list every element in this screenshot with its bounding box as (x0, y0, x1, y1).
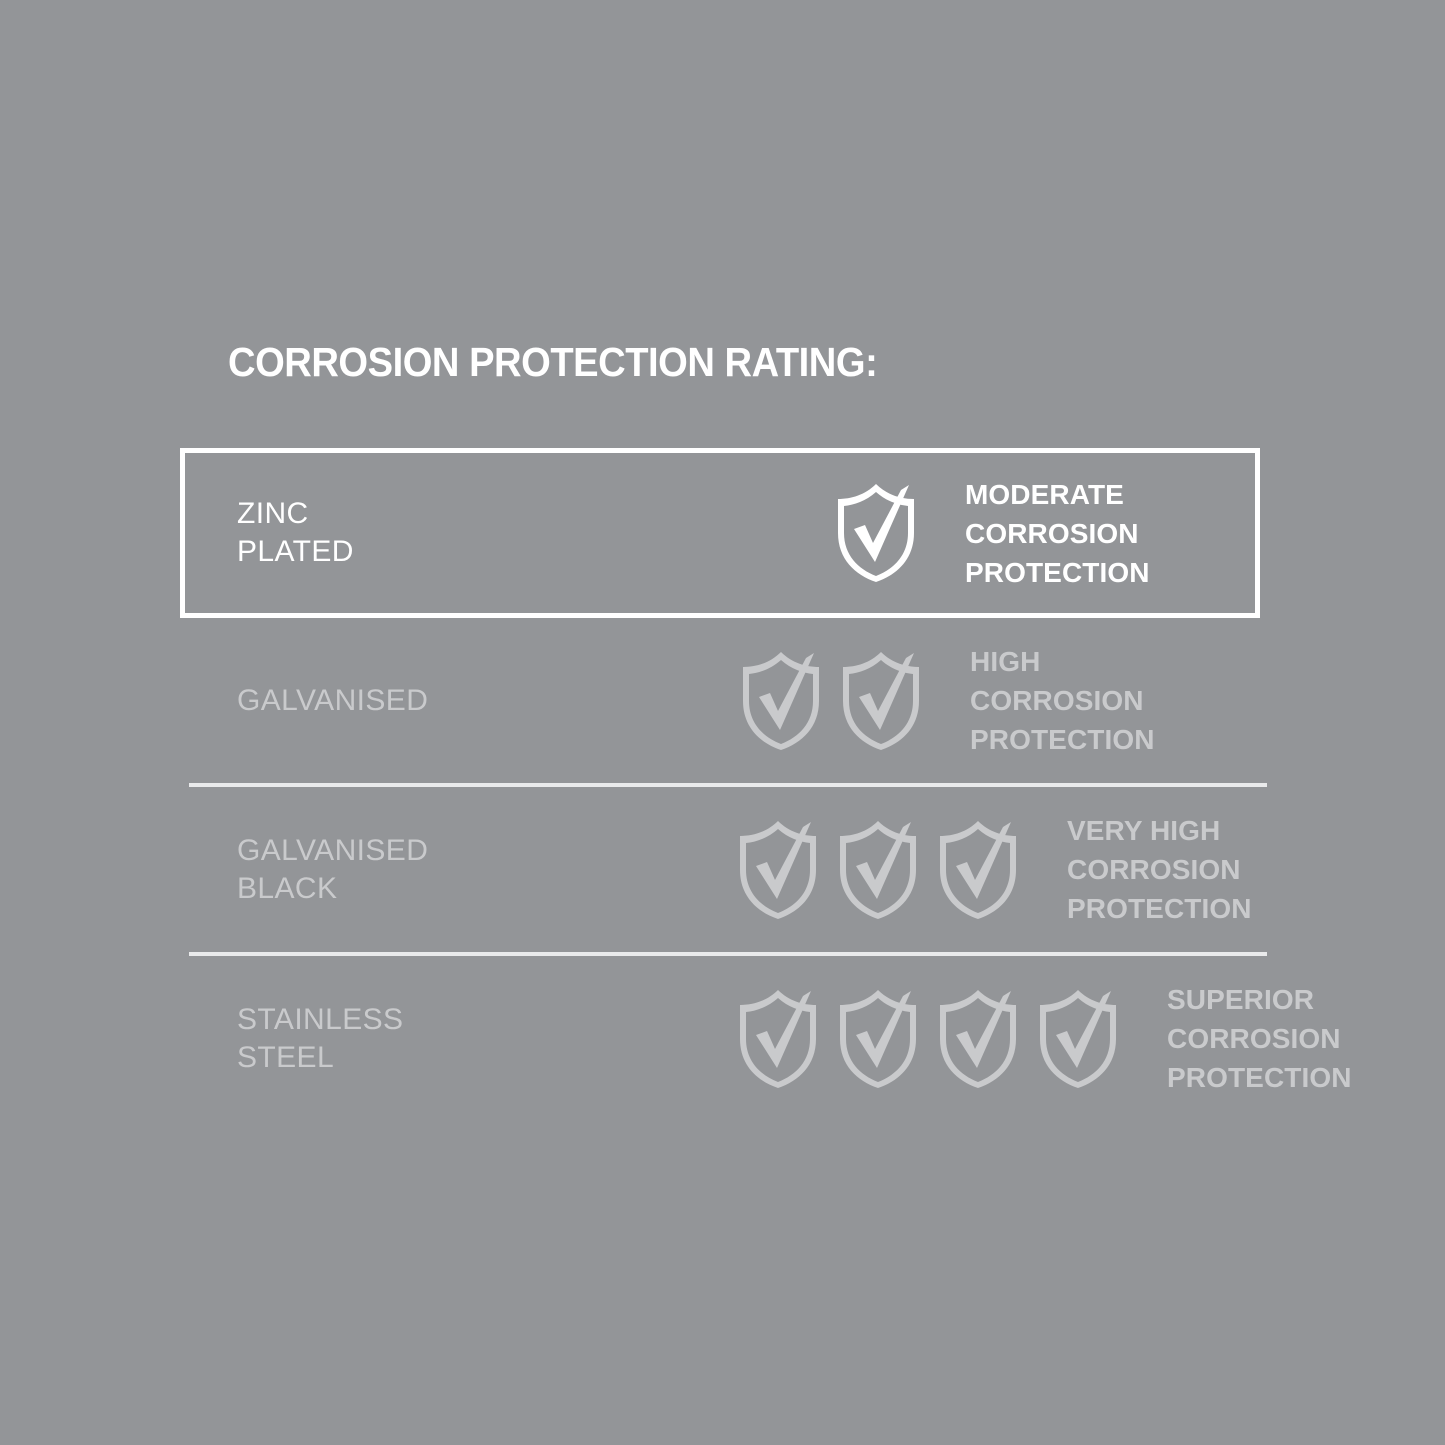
shield-check-icon (835, 481, 917, 585)
shield-group (737, 987, 1167, 1091)
rating-label: MODERATE CORROSION PROTECTION (965, 475, 1255, 592)
shield-check-icon (737, 818, 819, 922)
shield-check-icon (737, 987, 819, 1091)
shield-group (737, 649, 970, 753)
rating-label: SUPERIOR CORROSION PROTECTION (1167, 980, 1445, 1097)
shield-group (737, 481, 965, 585)
table-row-galvanised-black[interactable]: GALVANISED BLACK VERY HIGH CORROSION PRO… (180, 787, 1260, 952)
shield-check-icon (840, 649, 922, 753)
shield-check-icon (937, 818, 1019, 922)
rating-label: HIGH CORROSION PROTECTION (970, 642, 1260, 759)
rating-table: ZINC PLATED MODERATE CORROSION PROTECTIO… (180, 448, 1260, 1121)
table-row-zinc-plated[interactable]: ZINC PLATED MODERATE CORROSION PROTECTIO… (180, 448, 1260, 618)
table-row-stainless-steel[interactable]: STAINLESS STEEL SUPE (180, 956, 1260, 1121)
rating-label: VERY HIGH CORROSION PROTECTION (1067, 811, 1357, 928)
material-label: ZINC PLATED (237, 495, 737, 571)
table-row-galvanised[interactable]: GALVANISED HIGH CORROSION PROTECTION (180, 618, 1260, 783)
shield-check-icon (937, 987, 1019, 1091)
material-label: GALVANISED (237, 682, 737, 720)
material-label: STAINLESS STEEL (237, 1001, 737, 1077)
material-label: GALVANISED BLACK (237, 832, 737, 908)
corrosion-protection-infographic: CORROSION PROTECTION RATING: ZINC PLATED… (0, 0, 1445, 1445)
shield-check-icon (837, 818, 919, 922)
page-title: CORROSION PROTECTION RATING: (228, 342, 877, 383)
shield-check-icon (1037, 987, 1119, 1091)
shield-group (737, 818, 1067, 922)
shield-check-icon (740, 649, 822, 753)
shield-check-icon (837, 987, 919, 1091)
